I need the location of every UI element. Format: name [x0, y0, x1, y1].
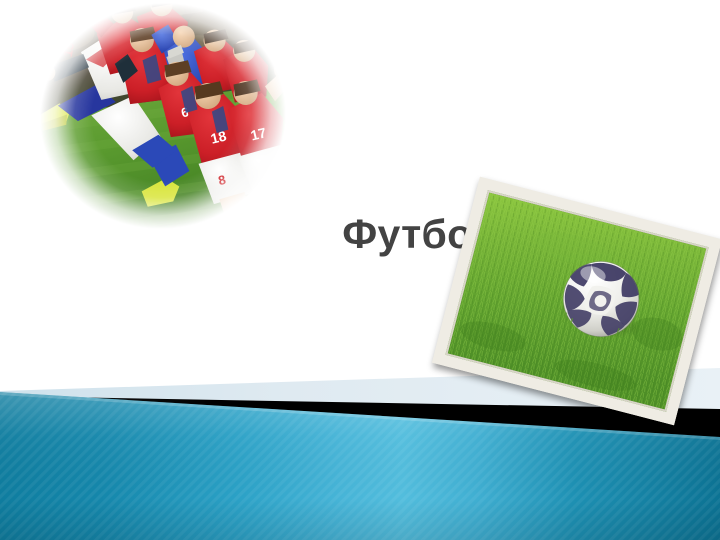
teal-band-shading	[0, 392, 720, 540]
slide-canvas: 15	[0, 0, 720, 540]
teal-band	[0, 392, 720, 540]
soccer-ball-photo	[445, 190, 708, 412]
teal-band-pinstripe	[0, 392, 720, 540]
soccer-ball-photo-frame	[432, 177, 720, 425]
svg-text:15: 15	[60, 41, 77, 58]
